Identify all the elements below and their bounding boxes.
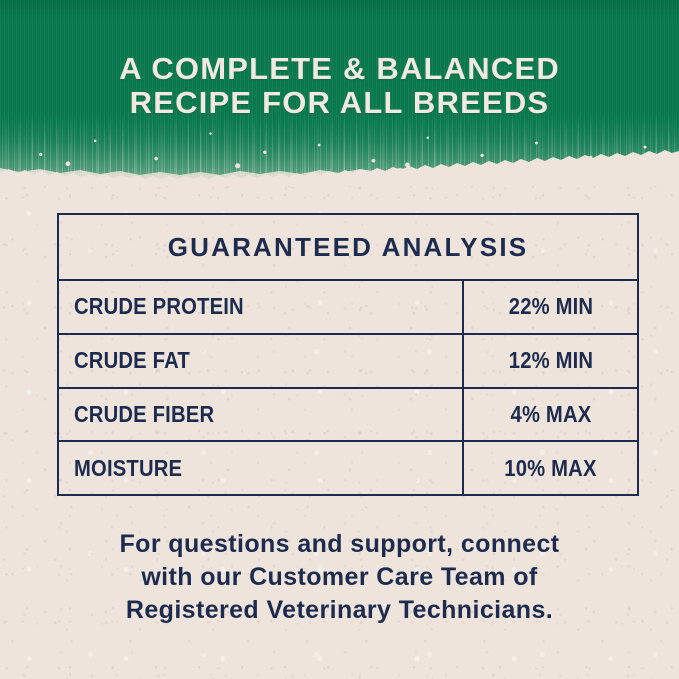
value-label: 10% MAX bbox=[504, 455, 596, 482]
value-cell: 22% MIN bbox=[464, 281, 637, 333]
nutrient-cell: CRUDE FIBER bbox=[59, 389, 464, 441]
headline: A COMPLETE & BALANCED RECIPE FOR ALL BRE… bbox=[0, 52, 679, 120]
nutrient-label: CRUDE FIBER bbox=[74, 401, 214, 428]
value-label: 12% MIN bbox=[508, 347, 592, 374]
product-info-panel: A COMPLETE & BALANCED RECIPE FOR ALL BRE… bbox=[0, 0, 679, 679]
value-cell: 12% MIN bbox=[464, 335, 637, 387]
nutrient-cell: MOISTURE bbox=[59, 442, 464, 494]
nutrient-label: MOISTURE bbox=[74, 455, 182, 482]
customer-support-message: For questions and support, connect with … bbox=[0, 528, 679, 627]
value-cell: 10% MAX bbox=[464, 442, 637, 494]
headline-line-1: A COMPLETE & BALANCED bbox=[0, 52, 679, 86]
support-line-1: For questions and support, connect bbox=[0, 528, 679, 561]
nutrient-cell: CRUDE PROTEIN bbox=[59, 281, 464, 333]
value-cell: 4% MAX bbox=[464, 389, 637, 441]
value-label: 4% MAX bbox=[510, 401, 591, 428]
table-row: MOISTURE 10% MAX bbox=[59, 442, 637, 494]
value-label: 22% MIN bbox=[508, 293, 592, 320]
nutrient-label: CRUDE PROTEIN bbox=[74, 293, 244, 320]
support-line-3: Registered Veterinary Technicians. bbox=[0, 594, 679, 627]
table-title: GUARANTEED ANALYSIS bbox=[168, 232, 529, 263]
guaranteed-analysis-table: GUARANTEED ANALYSIS CRUDE PROTEIN 22% MI… bbox=[57, 213, 639, 496]
table-title-row: GUARANTEED ANALYSIS bbox=[59, 215, 637, 281]
support-line-2: with our Customer Care Team of bbox=[0, 561, 679, 594]
table-row: CRUDE FIBER 4% MAX bbox=[59, 389, 637, 443]
table-row: CRUDE FAT 12% MIN bbox=[59, 335, 637, 389]
headline-line-2: RECIPE FOR ALL BREEDS bbox=[0, 86, 679, 120]
nutrient-cell: CRUDE FAT bbox=[59, 335, 464, 387]
table-row: CRUDE PROTEIN 22% MIN bbox=[59, 281, 637, 335]
nutrient-label: CRUDE FAT bbox=[74, 347, 190, 374]
